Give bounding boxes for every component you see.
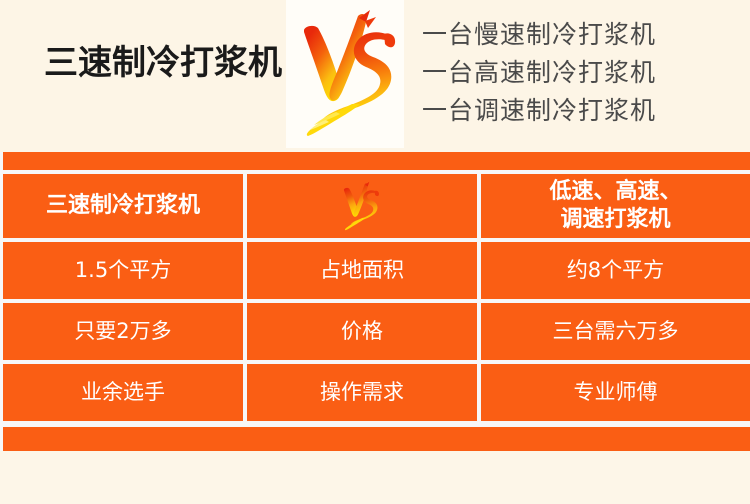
- cell-value: 只要2万多: [74, 318, 171, 345]
- table-row: 1.5个平方 占地面积 约8个平方: [0, 242, 750, 299]
- table-cell-center: [247, 174, 477, 238]
- cell-attribute: 价格: [341, 318, 383, 345]
- cell-value: 约8个平方: [567, 257, 664, 284]
- table-cell-right: 三台需六万多: [481, 303, 750, 360]
- table-bottom-strip: [3, 427, 750, 451]
- table-cell-left: 业余选手: [3, 364, 243, 421]
- table-row: 只要2万多 价格 三台需六万多: [0, 303, 750, 360]
- cell-attribute: 操作需求: [320, 379, 404, 406]
- table-cell-right: 专业师傅: [481, 364, 750, 421]
- vs-brush-logo-icon: [340, 181, 384, 231]
- table-cell-right: 低速、高速、 调速打浆机: [481, 174, 750, 238]
- footer-background: [0, 451, 750, 504]
- hero-line-2: 一台高速制冷打浆机: [422, 54, 722, 92]
- hero-banner: 三速制冷打浆机: [0, 0, 750, 152]
- vs-brush-logo-icon: [296, 8, 406, 138]
- table-row: 三速制冷打浆机: [0, 174, 750, 238]
- table-cell-left: 只要2万多: [3, 303, 243, 360]
- table-cell-right: 约8个平方: [481, 242, 750, 299]
- table-cell-center: 占地面积: [247, 242, 477, 299]
- cell-attribute: 占地面积: [320, 257, 404, 284]
- table-cell-center: 价格: [247, 303, 477, 360]
- cell-value: 业余选手: [81, 379, 165, 406]
- cell-label: 低速、高速、 调速打浆机: [549, 178, 681, 234]
- cell-label: 三速制冷打浆机: [46, 192, 200, 220]
- comparison-infographic: 三速制冷打浆机: [0, 0, 750, 504]
- cell-value: 专业师傅: [574, 379, 658, 406]
- comparison-table: 三速制冷打浆机: [0, 152, 750, 451]
- hero-line-3: 一台调速制冷打浆机: [422, 92, 722, 130]
- table-cell-left: 三速制冷打浆机: [3, 174, 243, 238]
- hero-line-1: 一台慢速制冷打浆机: [422, 16, 722, 54]
- cell-value: 1.5个平方: [75, 257, 171, 284]
- table-top-strip: [3, 152, 750, 170]
- hero-line-list: 一台慢速制冷打浆机 一台高速制冷打浆机 一台调速制冷打浆机: [422, 16, 722, 130]
- table-grid: 三速制冷打浆机: [0, 174, 750, 424]
- table-cell-left: 1.5个平方: [3, 242, 243, 299]
- table-row: 业余选手 操作需求 专业师傅: [0, 364, 750, 421]
- table-cell-center: 操作需求: [247, 364, 477, 421]
- page-title: 三速制冷打浆机: [44, 46, 294, 80]
- cell-value: 三台需六万多: [553, 318, 679, 345]
